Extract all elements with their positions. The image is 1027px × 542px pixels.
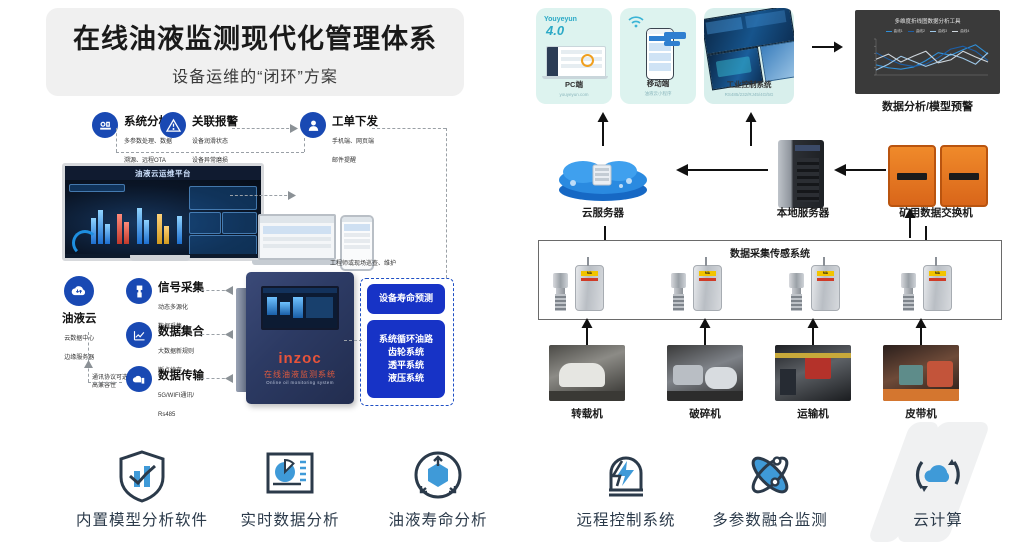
bottom-feature-remote-control-system[interactable]: 远程控制系统 [556,444,696,530]
dashboard-widget [222,212,257,234]
bottom-feature-label: 实时数据分析 [220,508,360,530]
mine-data-switch-illustration [888,145,936,207]
connector-dashed [304,138,305,152]
ai-icon [92,112,118,138]
wifi-icon [628,16,644,28]
connector-line [925,226,927,240]
page-title: 在线油液监测现代化管理体系 [73,17,437,56]
warning-icon [160,112,186,138]
bottom-feature-cloud-computing[interactable]: 云计算 [868,444,1008,530]
connector-dashed [88,332,89,382]
cloud-refresh-icon [868,444,1008,508]
pc-version: 4.0 [546,23,612,38]
arrow-right-icon [812,40,844,54]
pc-brand: Youyeyun [544,16,612,23]
dashboard-title: 油液云运维平台 [65,166,261,180]
bottom-feature-oil-life-analysis[interactable]: 油液寿命分析 [368,444,508,530]
connector-dashed [116,152,304,153]
arrow-up-icon [596,112,610,146]
arrow-up-icon [903,208,917,238]
prediction-secondary-card[interactable]: 系统循环油路 齿轮系统 透平系统 液压系统 [367,320,445,398]
bottom-feature-label: 远程控制系统 [556,508,696,530]
shield-chart-icon [72,444,212,508]
device-name-cn: 在线油液监测系统 [246,369,354,380]
legend-item: 曲线4 [952,29,969,34]
arrow-up-icon [744,112,758,146]
label-belt-machine: 皮带机 [883,406,959,421]
dashboard-widget [69,184,125,192]
device-brand: inzoc [246,350,354,367]
chart-plot [864,36,992,82]
feature-data-transmission[interactable]: 数据传输 5G/WIFI通讯/ Rs485 [126,366,204,421]
arrow-up-icon [914,318,928,346]
arrow-icon [224,374,233,383]
connector-dashed [88,382,122,383]
arrow-icon [84,360,93,369]
user-icon [300,112,326,138]
laptop-illustration [258,214,332,265]
feature-subtitle: 手机端、网页端 邮件提醒 [332,139,374,163]
card-caption: 工业控制系统 RS485/232/RJ45/4G/5G [704,79,794,97]
cube-arrows-icon [368,444,508,508]
label-local-server: 本地服务器 [758,205,848,220]
lightning-icon [556,444,696,508]
label-cloud-server: 云服务器 [553,205,653,220]
arrow-icon [224,330,233,339]
oil-probe-icon [901,273,916,311]
legend-item: 曲线3 [930,29,947,34]
device-screen [261,286,339,330]
page-title-card: 在线油液监测现代化管理体系 设备运维的“闭环”方案 [46,8,464,96]
sensor-system-title: 数据采集传感系统 [539,245,1001,260]
oil-probe-icon [671,273,686,311]
connector-dashed [116,128,117,152]
bottom-feature-realtime-data-analysis[interactable]: 实时数据分析 [220,444,360,530]
arrow-up-icon [580,318,594,346]
transmitter-icon: MA [923,265,952,311]
arrow-up-icon [806,318,820,346]
feature-work-order[interactable]: 工单下发 手机端、网页端 邮件提醒 [300,112,378,167]
mine-data-switch-illustration [940,145,988,207]
analysis-caption: 数据分析/模型预警 [855,98,1000,114]
node-subtitle: 云数据中心 边缘服务器 [64,336,94,360]
card-caption: PC端 youyeyun.com [536,79,612,97]
oil-monitoring-device: inzoc 在线油液监测系统 Online oil monitoring sys… [246,272,354,404]
legend-item: 曲线1 [886,29,903,34]
chart-title: 多维度折线图数据分析工具 [855,17,1000,25]
label-crusher: 破碎机 [667,406,743,421]
card-caption: 移动端 油液云小程序 [620,78,696,97]
bottom-feature-label: 多参数融合监测 [700,508,840,530]
connector-dashed [232,128,294,129]
arrow-left-icon [834,163,886,177]
photo-transfer-machine [549,345,625,401]
cloud-server-illustration [553,150,653,206]
engineer-note: 工程师或现场巡查、维护 [330,258,396,267]
arrow-up-icon [698,318,712,346]
trend-icon [126,322,152,348]
arrow-icon [224,286,233,295]
gauge-widget [72,230,98,256]
arrow-left-icon [676,163,768,177]
bottom-feature-label: 内置模型分析软件 [72,508,212,530]
dashboard-body [65,180,261,258]
chart-legend: 曲线1 曲线2 曲线3 曲线4 [855,29,1000,34]
poster-root: 在线油液监测现代化管理体系 设备运维的“闭环”方案 系统分析 多参数处理、数据 … [0,0,1027,534]
feature-title: 工单下发 [332,116,378,128]
node-title: 油液云 [62,313,97,325]
label-conveyor: 运输机 [775,406,851,421]
sensor-unit: MA [671,265,722,311]
connector-dashed [446,128,447,278]
sensor-unit: MA [553,265,604,311]
card-mobile-terminal[interactable]: 移动端 油液云小程序 [620,8,696,104]
sensor-icon [126,278,152,304]
label-mine-data-switch: 矿用数据交换机 [874,205,998,220]
page-subtitle: 设备运维的“闭环”方案 [172,63,338,87]
connector-dashed [230,195,292,196]
connector-dashed [372,128,446,129]
oil-cloud-node[interactable]: 油液云 云数据中心 边缘服务器 [62,276,97,364]
photo-conveyor [775,345,851,401]
sensor-unit: MA [901,265,952,311]
photo-crusher [667,345,743,401]
dashboard-widget [189,186,257,210]
feature-subtitle: 5G/WIFI通讯/ Rs485 [158,393,194,417]
bottom-feature-built-in-model-software[interactable]: 内置模型分析软件 [72,444,212,530]
feature-title: 关联报警 [192,116,238,128]
analysis-chart-card: 多维度折线图数据分析工具 曲线1 曲线2 曲线3 曲线4 [855,10,1000,94]
cloud-platform-monitor: 油液云运维平台 [62,163,264,261]
device-name-en: Online oil monitoring system [246,380,354,385]
transmitter-icon: MA [575,265,604,311]
feature-linked-alarm[interactable]: 关联报警 设备润滑状态 设备异常磨损 [160,112,238,167]
connector-line [604,226,606,240]
feature-title: 数据传输 [158,370,204,382]
photo-belt-machine [883,345,959,401]
transmitter-icon: MA [811,265,840,311]
card-industrial-control[interactable]: 工业控制系统 RS485/232/RJ45/4G/5G [704,8,794,104]
atom-icon [700,444,840,508]
bottom-feature-label: 云计算 [868,508,1008,530]
sensor-unit: MA [789,265,840,311]
sensor-system-box: 数据采集传感系统 MA MA MA MA [538,240,1002,320]
cloud-sync-icon [64,276,94,306]
legend-item: 曲线2 [908,29,925,34]
card-pc-terminal[interactable]: Youyeyun 4.0 PC端 youyeyun.com [536,8,612,104]
local-server-illustration [778,140,824,208]
cloud-upload-icon [126,366,152,392]
feature-title: 数据集合 [158,326,204,338]
bottom-feature-label: 油液寿命分析 [368,508,508,530]
transmitter-icon: MA [693,265,722,311]
dashboard-widget [189,212,221,234]
monitor-stand [130,255,190,261]
pie-chart-icon [220,444,360,508]
prediction-primary-card[interactable]: 设备寿命预测 [367,284,445,314]
bottom-feature-multi-parameter-fusion[interactable]: 多参数融合监测 [700,444,840,530]
label-transfer-machine: 转载机 [549,406,625,421]
connector-dashed [344,340,362,341]
arrow-icon [288,191,297,200]
arrow-icon [290,124,299,133]
feature-title: 信号采集 [158,282,204,294]
oil-probe-icon [553,273,568,311]
oil-probe-icon [789,273,804,311]
